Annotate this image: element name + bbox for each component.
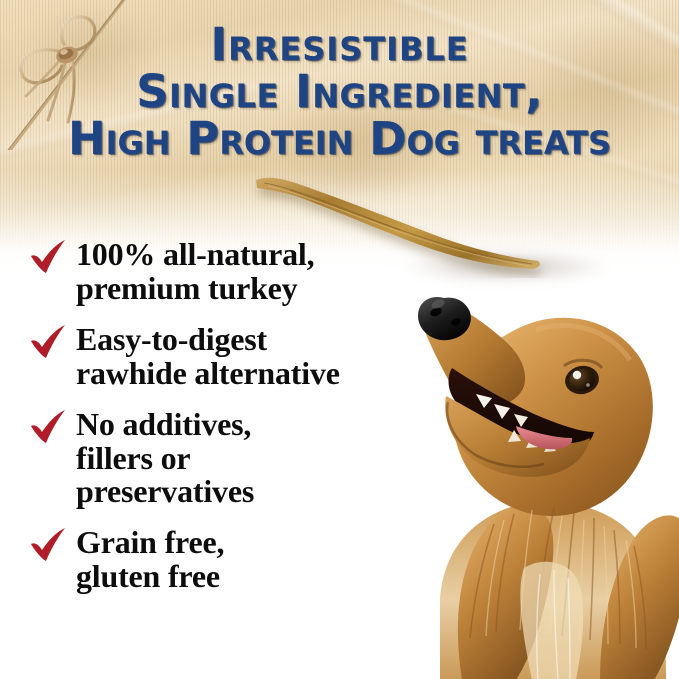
- check-icon: [28, 410, 68, 448]
- headline-line-3: High Protein Dog treats: [0, 116, 679, 161]
- list-item-label: Easy-to-digest rawhide alternative: [76, 323, 448, 391]
- cocker-spaniel-dog-image: [404, 268, 679, 679]
- list-item-label: 100% all-natural, premium turkey: [76, 238, 448, 306]
- check-icon: [28, 528, 68, 566]
- list-item: 100% all-natural, premium turkey: [28, 238, 448, 306]
- feature-bullet-list: 100% all-natural, premium turkey Easy-to…: [28, 238, 448, 594]
- check-icon: [28, 240, 68, 278]
- list-item-label: No additives, fillers or preservatives: [76, 408, 448, 510]
- headline-line-2: Single Ingredient,: [0, 69, 679, 114]
- product-feature-banner: Irresistible Single Ingredient, High Pro…: [0, 0, 679, 679]
- list-item-label: Grain free, gluten free: [76, 526, 448, 594]
- headline: Irresistible Single Ingredient, High Pro…: [0, 22, 679, 161]
- list-item: Grain free, gluten free: [28, 526, 448, 594]
- check-icon: [28, 325, 68, 363]
- list-item: Easy-to-digest rawhide alternative: [28, 323, 448, 391]
- headline-line-1: Irresistible: [0, 22, 679, 67]
- list-item: No additives, fillers or preservatives: [28, 408, 448, 510]
